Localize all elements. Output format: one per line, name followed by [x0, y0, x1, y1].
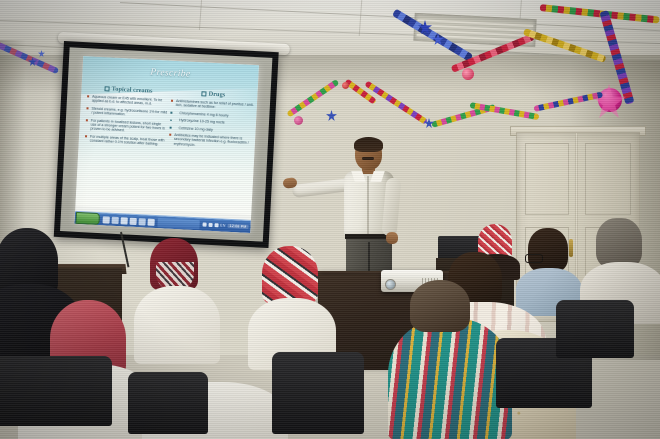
system-tray: EN 12:08 PM: [202, 222, 249, 228]
attendee-maroon-hijab: [150, 238, 198, 290]
door-panel: [525, 143, 569, 215]
garland-bauble: [294, 116, 303, 125]
garland-bauble: [462, 68, 474, 80]
attendee-grey-hair-man: [596, 218, 642, 268]
attendee-black-hijab: [0, 228, 58, 296]
door-handle[interactable]: [569, 239, 573, 257]
chair[interactable]: [272, 352, 364, 434]
powerpoint-slide: Prescribe Topical creams Aqueous cream o…: [75, 56, 259, 215]
slide-bullet: For patients in localised lesions, short…: [85, 118, 168, 135]
attendee-glasses-man: [528, 228, 568, 272]
shirt-placket: [367, 176, 369, 234]
projection-screen: Prescribe Topical creams Aqueous cream o…: [54, 41, 279, 248]
striped-garment: [388, 318, 512, 439]
quicklaunch-icon[interactable]: [103, 216, 110, 223]
taskbar-clock[interactable]: 12:08 PM: [227, 224, 248, 229]
tray-icon[interactable]: [214, 223, 218, 227]
presenter-hair: [354, 137, 383, 152]
screen-surface: Prescribe Topical creams Aqueous cream o…: [60, 47, 272, 241]
quicklaunch-icon[interactable]: [147, 218, 154, 225]
slide-bullet: Antihistamines such as for relief of pru…: [171, 99, 255, 112]
projected-image: Prescribe Topical creams Aqueous cream o…: [74, 56, 259, 233]
start-button[interactable]: [75, 212, 100, 225]
presenter-right-hand: [386, 232, 398, 244]
attendee-teal-stripe: [388, 318, 512, 439]
slide-bullet: For multiple areas of the scalp, treat t…: [85, 134, 167, 147]
head: [528, 228, 568, 272]
attendee-patterned-red: [262, 246, 318, 304]
presenter: [300, 138, 420, 268]
door-panel: [585, 143, 631, 215]
quick-launch-tray: [103, 216, 155, 226]
chair[interactable]: [556, 300, 634, 358]
slide-title: Prescribe: [82, 64, 258, 83]
slide-left-column: Topical creams Aqueous cream or E45 with…: [85, 84, 170, 150]
garland-bauble: [342, 82, 349, 89]
bullet-square-icon: [201, 91, 206, 96]
head: [410, 280, 470, 332]
slide-right-column: Drugs Antihistamines such as for relief …: [168, 89, 255, 154]
tray-icon[interactable]: [208, 223, 212, 227]
left-column-heading: Topical creams: [87, 84, 169, 95]
slide-bullet: Antibiotics may be indicated where there…: [169, 133, 254, 151]
presenter-moustache: [362, 157, 374, 160]
chair[interactable]: [0, 356, 112, 426]
eyeglasses-icon: [525, 254, 543, 263]
lecture-room-photo: Prescribe Topical creams Aqueous cream o…: [0, 0, 660, 439]
taskbar-window-button[interactable]: [157, 218, 199, 229]
quicklaunch-icon[interactable]: [121, 217, 128, 224]
slide-bullet: Steroid creams, e.g. hydrocortisone 1% f…: [86, 106, 168, 119]
chair[interactable]: [128, 372, 208, 434]
bullet-square-icon: [104, 86, 109, 91]
quicklaunch-icon[interactable]: [130, 217, 137, 224]
projector-lens: [385, 279, 396, 290]
tray-icon[interactable]: [202, 222, 206, 226]
quicklaunch-icon[interactable]: [138, 218, 145, 225]
head: [596, 218, 642, 268]
headscarf: [262, 246, 318, 304]
quicklaunch-icon[interactable]: [112, 216, 119, 223]
tray-language-indicator[interactable]: EN: [220, 223, 226, 227]
windows-taskbar: EN 12:08 PM: [74, 211, 250, 233]
presenter-pointing-arm: [292, 178, 351, 198]
slide-bullet: Aqueous cream or E45 with emollient. To …: [87, 94, 169, 107]
